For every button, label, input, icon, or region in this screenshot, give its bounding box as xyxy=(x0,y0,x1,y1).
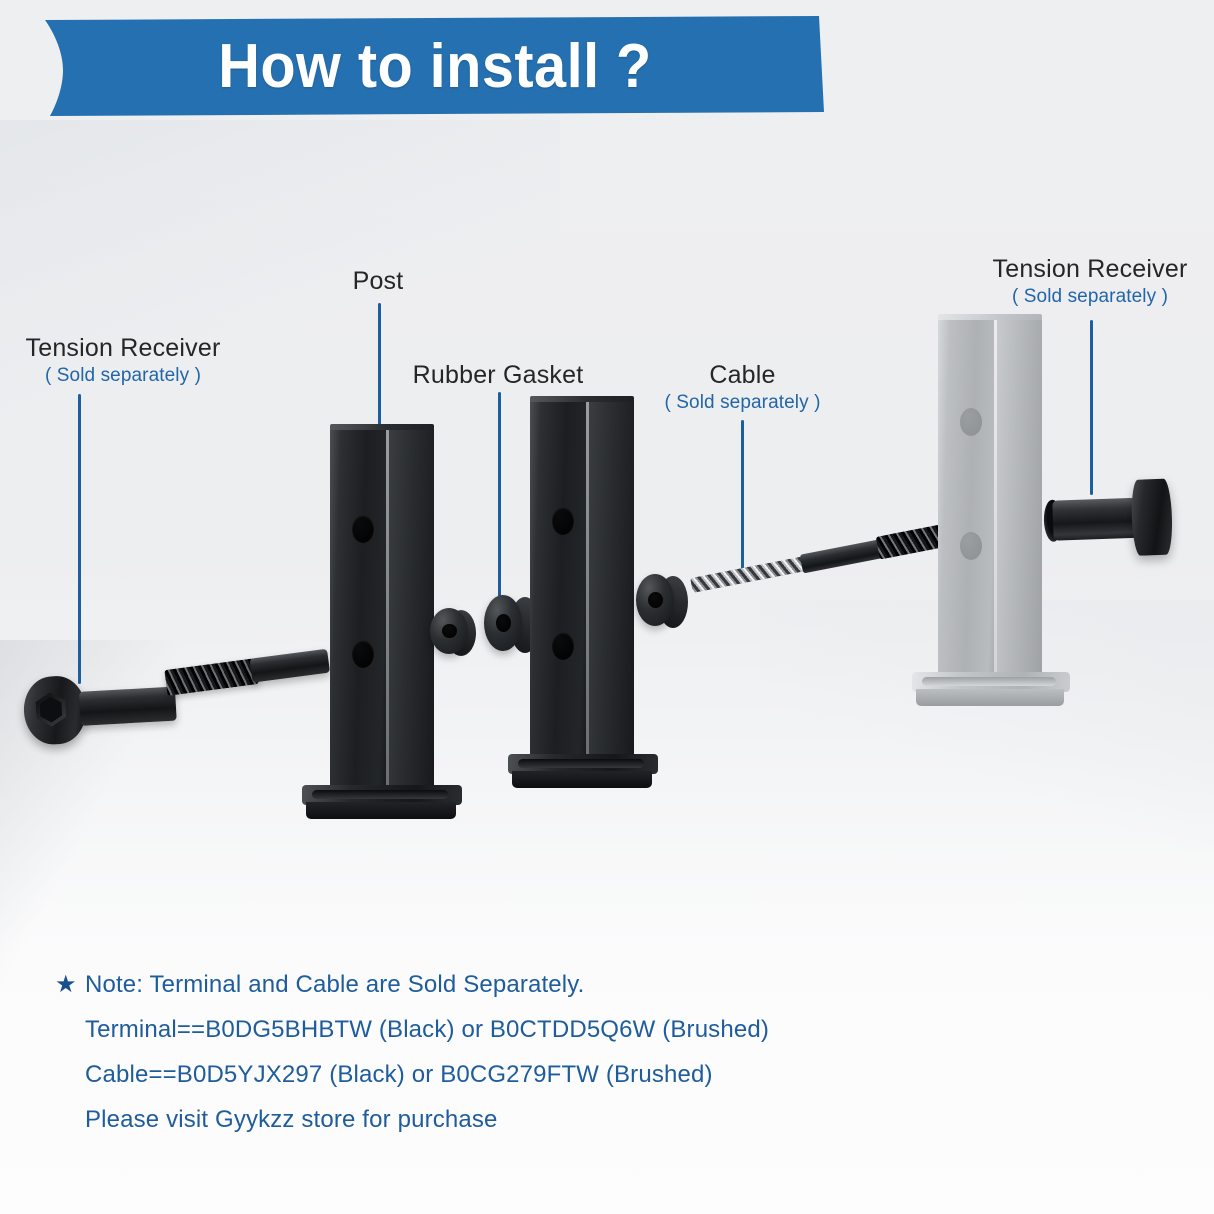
post-face-left xyxy=(938,320,996,680)
post-hole-upper xyxy=(352,515,374,543)
post-base-plate xyxy=(508,754,658,788)
post-hole-lower xyxy=(352,640,374,668)
post-body xyxy=(938,320,1042,680)
label-rubber-gasket: Rubber Gasket xyxy=(392,360,604,390)
label-post: Post xyxy=(318,266,438,296)
header-banner: How to install ? xyxy=(43,16,827,116)
label-text-sub: ( Sold separately ) xyxy=(965,284,1214,310)
base-plate-side xyxy=(916,689,1064,706)
part-threaded-rod xyxy=(163,639,332,706)
leader-line-tension-receiver-left xyxy=(78,394,81,684)
star-icon: ★ xyxy=(55,962,85,1007)
part-tension-receiver-barrel xyxy=(1043,475,1182,564)
base-plate-slot xyxy=(518,759,644,768)
cable-swage-ferrule xyxy=(800,538,888,573)
label-cable: Cable ( Sold separately ) xyxy=(645,360,840,416)
base-plate-slot xyxy=(922,677,1056,686)
post-face-left xyxy=(530,402,588,762)
post-hole-lower xyxy=(552,632,574,660)
note-line-3: Cable==B0D5YJX297 (Black) or B0CG279FTW … xyxy=(55,1052,1055,1097)
post-corner-seam xyxy=(386,430,389,790)
receiver-barrel xyxy=(1052,498,1139,541)
post-body xyxy=(530,402,634,762)
base-plate-side xyxy=(306,802,456,819)
base-plate-side xyxy=(512,771,652,788)
post-face-right xyxy=(588,402,634,762)
post-face-right xyxy=(996,320,1042,680)
label-tension-receiver-right: Tension Receiver ( Sold separately ) xyxy=(965,254,1214,310)
label-text-main: Rubber Gasket xyxy=(392,360,604,390)
label-tension-receiver-left: Tension Receiver ( Sold separately ) xyxy=(0,333,246,389)
leader-line-cable xyxy=(741,420,744,575)
part-rubber-gasket-3 xyxy=(636,574,688,626)
base-plate-slot xyxy=(312,790,448,799)
note-line-4: Please visit Gyykzz store for purchase xyxy=(55,1097,1055,1142)
label-text-main: Post xyxy=(318,266,438,296)
gasket-bore xyxy=(496,614,511,632)
note-line-1: Note: Terminal and Cable are Sold Separa… xyxy=(85,962,584,1007)
bolt-shank xyxy=(79,687,177,726)
post-base-plate xyxy=(302,785,462,821)
post-hole-upper xyxy=(960,408,982,436)
infographic-canvas: How to install ? Tension Receiver ( Sold… xyxy=(0,0,1214,1214)
post-corner-seam xyxy=(586,402,589,762)
rod-threaded-section xyxy=(164,658,259,696)
leader-line-rubber-gasket xyxy=(498,392,501,598)
post-face-left xyxy=(330,430,388,790)
post-hole-lower xyxy=(960,532,982,560)
receiver-flange xyxy=(1131,479,1174,556)
cable-braided-wire xyxy=(690,555,813,593)
note-line-1-row: ★ Note: Terminal and Cable are Sold Sepa… xyxy=(55,962,1055,1007)
bolt-head xyxy=(22,675,88,746)
label-text-sub: ( Sold separately ) xyxy=(645,390,840,416)
post-hole-upper xyxy=(552,507,574,535)
banner-title: How to install ? xyxy=(70,16,799,116)
post-base-plate xyxy=(912,672,1070,708)
part-socket-cap-bolt xyxy=(22,664,176,752)
post-body xyxy=(330,430,434,790)
label-text-main: Tension Receiver xyxy=(0,333,246,363)
part-rubber-gasket-1 xyxy=(430,608,476,654)
gasket-bore xyxy=(648,592,663,609)
rod-smooth-section xyxy=(250,649,330,683)
label-text-main: Tension Receiver xyxy=(965,254,1214,284)
label-text-main: Cable xyxy=(645,360,840,390)
note-block: ★ Note: Terminal and Cable are Sold Sepa… xyxy=(55,962,1055,1142)
post-corner-seam xyxy=(994,320,997,680)
leader-line-tension-receiver-right xyxy=(1090,320,1093,495)
label-text-sub: ( Sold separately ) xyxy=(0,363,246,389)
post-face-right xyxy=(388,430,434,790)
note-line-2: Terminal==B0DG5BHBTW (Black) or B0CTDD5Q… xyxy=(55,1007,1055,1052)
